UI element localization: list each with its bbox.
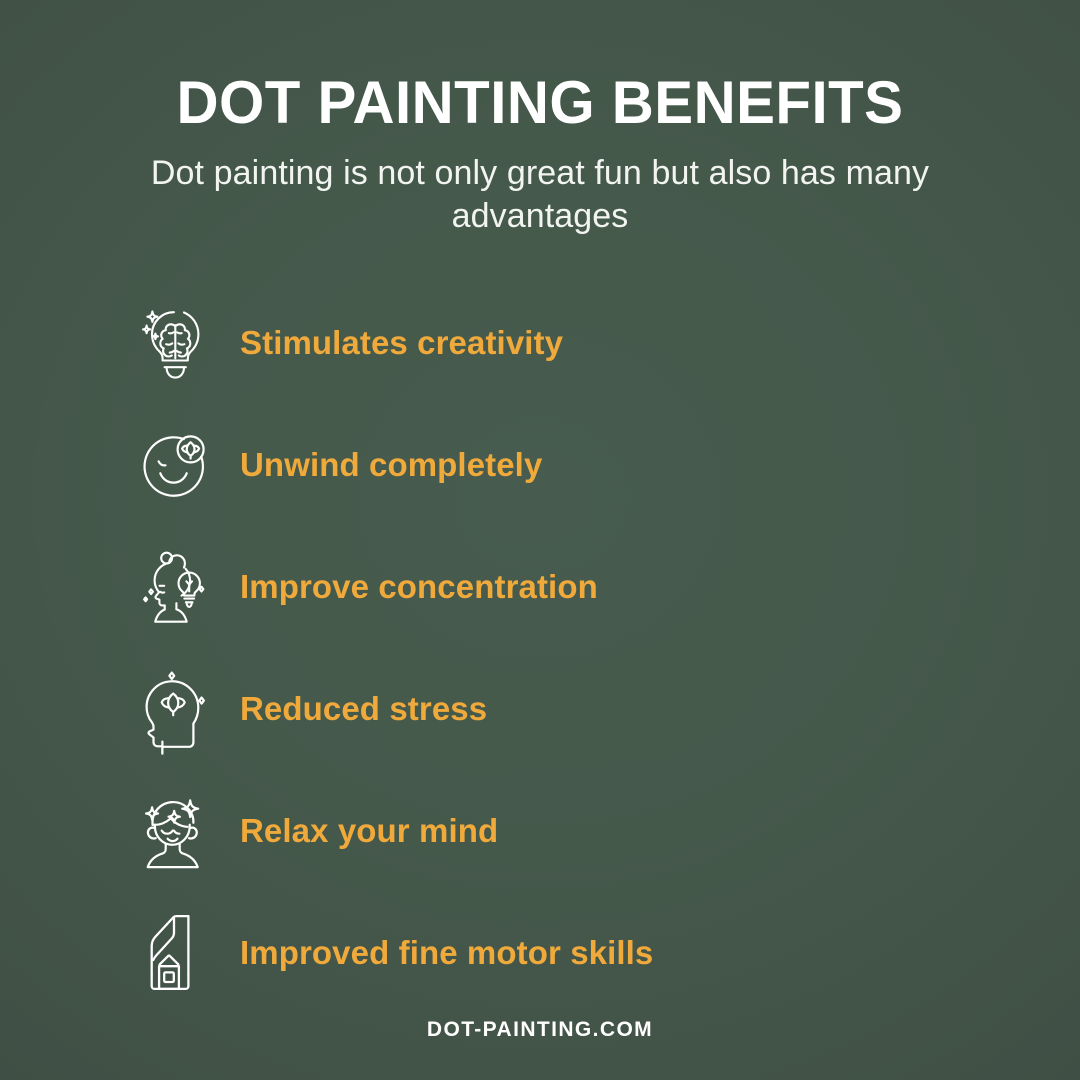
- benefit-label: Improve concentration: [240, 568, 598, 606]
- smiling-face-flower-icon: [136, 423, 214, 507]
- head-profile-lotus-icon: [136, 667, 214, 751]
- page-title: DOT PAINTING BENEFITS: [16, 72, 1064, 134]
- benefit-item-relax-your-mind: Relax your mind: [0, 770, 1080, 892]
- benefit-label: Relax your mind: [240, 812, 498, 850]
- benefit-item-stimulates-creativity: Stimulates creativity: [0, 282, 1080, 404]
- benefit-label: Unwind completely: [240, 446, 542, 484]
- benefit-item-improved-fine-motor-skills: Improved fine motor skills: [0, 892, 1080, 1014]
- website-url: DOT-PAINTING.COM: [427, 1018, 653, 1041]
- poster-header: DOT PAINTING BENEFITS Dot painting is no…: [0, 0, 1080, 238]
- benefits-list: Stimulates creativity: [0, 282, 1080, 1014]
- poster-canvas: DOT PAINTING BENEFITS Dot painting is no…: [0, 0, 1080, 1080]
- relaxed-face-sparkles-icon: [136, 789, 214, 873]
- benefit-label: Stimulates creativity: [240, 324, 563, 362]
- footer: DOT-PAINTING.COM: [0, 1018, 1080, 1042]
- benefit-item-unwind-completely: Unwind completely: [0, 404, 1080, 526]
- benefit-item-reduced-stress: Reduced stress: [0, 648, 1080, 770]
- benefit-label: Improved fine motor skills: [240, 934, 653, 972]
- page-subtitle: Dot painting is not only great fun but a…: [145, 152, 935, 238]
- benefit-item-improve-concentration: Improve concentration: [0, 526, 1080, 648]
- hand-holding-dot-tool-icon: [136, 911, 214, 995]
- benefit-label: Reduced stress: [240, 690, 487, 728]
- lightbulb-brain-sparkle-icon: [136, 301, 214, 385]
- head-profile-lightbulb-icon: [136, 545, 214, 629]
